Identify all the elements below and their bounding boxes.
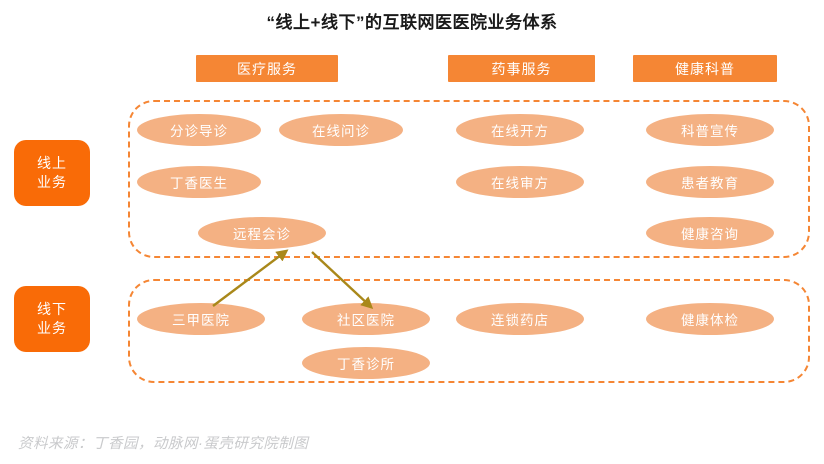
- page-title: “线上+线下”的互联网医医院业务体系: [0, 8, 824, 33]
- side-label-online: 线上 业务: [14, 140, 90, 206]
- pill-health-checkup[interactable]: 健康体检: [646, 303, 774, 335]
- pill-patient-education[interactable]: 患者教育: [646, 166, 774, 198]
- column-header-pharmacy: 药事服务: [448, 55, 595, 82]
- pill-dingxiang-doctor[interactable]: 丁香医生: [137, 166, 261, 198]
- pill-online-prescription[interactable]: 在线开方: [456, 114, 584, 146]
- pill-chain-pharmacy[interactable]: 连锁药店: [456, 303, 584, 335]
- pill-triage-guidance[interactable]: 分诊导诊: [137, 114, 261, 146]
- side-label-offline-line2: 业务: [37, 319, 67, 338]
- pill-health-advisory[interactable]: 健康咨询: [646, 217, 774, 249]
- pill-community-hospital[interactable]: 社区医院: [302, 303, 430, 335]
- side-label-offline-line1: 线下: [37, 300, 67, 319]
- pill-online-prescription-review[interactable]: 在线审方: [456, 166, 584, 198]
- pill-online-consultation[interactable]: 在线问诊: [279, 114, 403, 146]
- pill-dingxiang-clinic[interactable]: 丁香诊所: [302, 347, 430, 379]
- pill-tertiary-hospital[interactable]: 三甲医院: [137, 303, 265, 335]
- side-label-offline: 线下 业务: [14, 286, 90, 352]
- diagram-canvas: “线上+线下”的互联网医医院业务体系 医疗服务 药事服务 健康科普 线上 业务 …: [0, 0, 824, 464]
- side-label-online-line2: 业务: [37, 173, 67, 192]
- column-header-health-science: 健康科普: [633, 55, 777, 82]
- pill-science-promotion[interactable]: 科普宣传: [646, 114, 774, 146]
- column-header-medical: 医疗服务: [196, 55, 338, 82]
- side-label-online-line1: 线上: [37, 154, 67, 173]
- pill-remote-consultation[interactable]: 远程会诊: [198, 217, 326, 249]
- source-note: 资料来源：丁香园，动脉网·蛋壳研究院制图: [18, 432, 308, 453]
